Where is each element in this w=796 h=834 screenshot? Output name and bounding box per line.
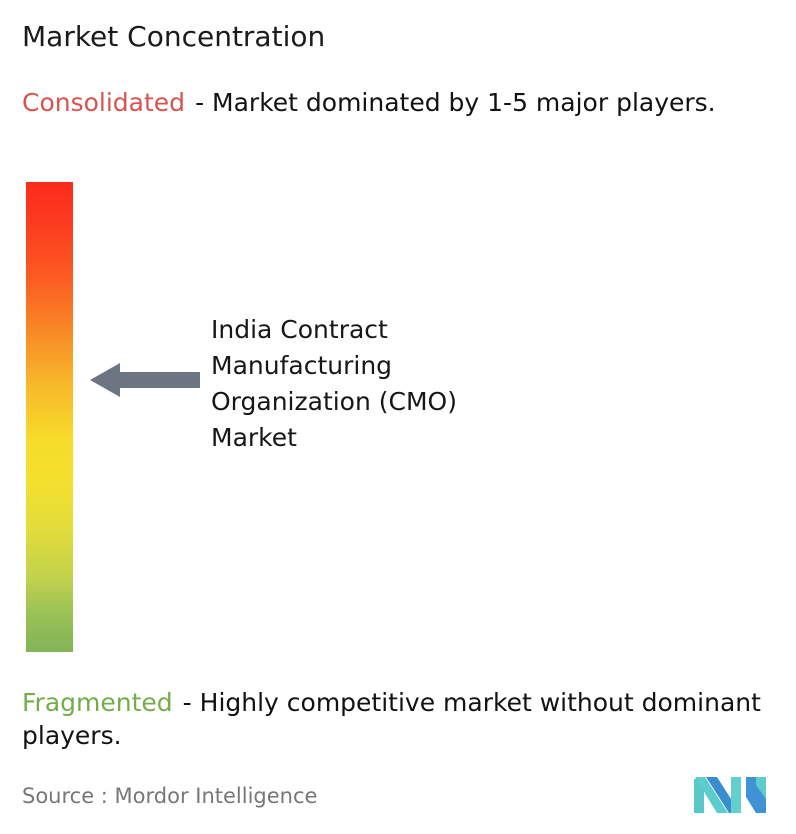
page-title: Market Concentration — [22, 20, 325, 54]
mordor-intelligence-logo — [694, 769, 766, 813]
consolidated-term: Consolidated — [22, 88, 185, 117]
fragmented-descriptor: Fragmented- Highly competitive market wi… — [22, 686, 792, 752]
market-callout-label: India Contract Manufacturing Organizatio… — [211, 312, 541, 456]
consolidated-descriptor: Consolidated- Market dominated by 1-5 ma… — [22, 86, 778, 119]
fragmented-term: Fragmented — [22, 688, 173, 717]
market-concentration-infographic: Market Concentration Consolidated- Marke… — [0, 0, 796, 834]
left-arrow-icon — [90, 361, 200, 399]
concentration-gradient-bar — [26, 182, 73, 652]
consolidated-description: - Market dominated by 1-5 major players. — [195, 88, 716, 117]
source-attribution: Source : Mordor Intelligence — [22, 783, 317, 809]
